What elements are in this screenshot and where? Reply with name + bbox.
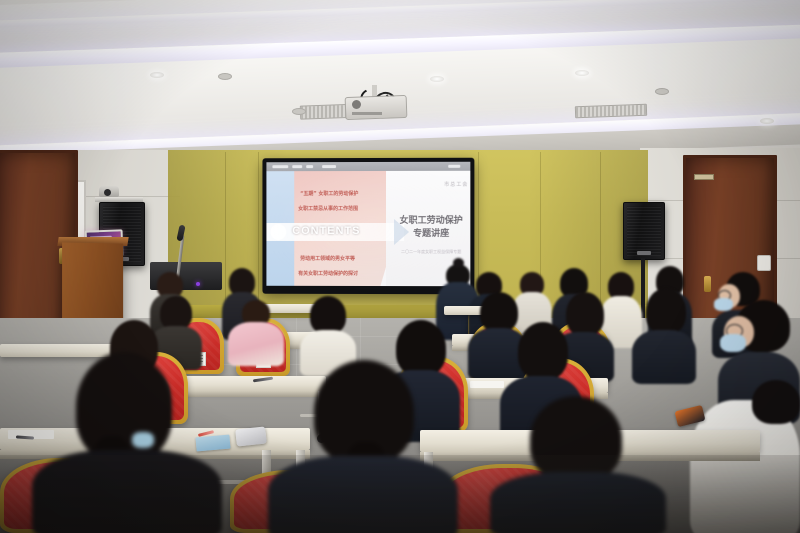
hair (646, 288, 686, 334)
ceiling-vent-2 (575, 104, 647, 119)
slide-logo-text: 市总工会 (406, 181, 468, 188)
downlight-1 (150, 72, 164, 78)
attendee-right-aisle (632, 288, 696, 380)
slide-bullet-1: “五期” 女职工的劳动保护 (300, 190, 358, 197)
torso (632, 330, 696, 384)
hair-bun (453, 258, 464, 268)
slide-bullet-3: 劳动用工领域的男女平等 (300, 255, 355, 262)
smartphone-on-desk[interactable] (235, 426, 267, 446)
speaker-badge-right (637, 251, 651, 255)
light-switch-plate[interactable] (757, 255, 771, 271)
paper-on-desk-1 (470, 381, 504, 388)
slide-title-line1: 女职工劳动保护 (392, 215, 470, 228)
conference-room-photo: 市总工会 “五期” 女职工的劳动保护 女职工禁忌从事的工作范围 劳动用工领域的男… (0, 0, 800, 533)
slide-contents-label: CONTENTS (292, 225, 360, 237)
hair (310, 296, 346, 334)
face-mask-icon (720, 334, 746, 352)
smoke-detector-3 (292, 108, 306, 115)
downlight-4 (760, 118, 774, 124)
door-handle-right-icon[interactable] (704, 276, 711, 292)
smoke-detector-2 (655, 88, 669, 95)
speaker-right (623, 202, 665, 260)
smoke-detector-1 (218, 73, 232, 80)
downlight-2 (430, 76, 444, 82)
slide-bullet-4: 有关女职工劳动保护的探讨 (298, 270, 358, 277)
mixer-power-led-icon (196, 282, 200, 286)
speaker-grille-right (627, 206, 661, 256)
downlight-3 (575, 70, 589, 76)
door-plate-icon (694, 174, 714, 180)
slide-title-line2: 专题讲座 (392, 228, 470, 241)
slide-subtitle: 二〇二一年度女职工权益保障专题 (392, 249, 470, 255)
attendee-pink-coat (228, 300, 284, 362)
slide-contents-bullet-icon (270, 224, 286, 240)
ceiling (0, 0, 800, 160)
floor-foreground-shadow (0, 455, 800, 533)
projector-label (352, 112, 382, 115)
camera-lens-icon (104, 189, 111, 196)
hair (752, 380, 800, 424)
projector-lens-icon (352, 100, 361, 109)
slide-bullet-2: 女职工禁忌从事的工作范围 (298, 205, 358, 212)
presentation-toolbar (266, 162, 470, 171)
face-mask-icon (132, 432, 154, 448)
